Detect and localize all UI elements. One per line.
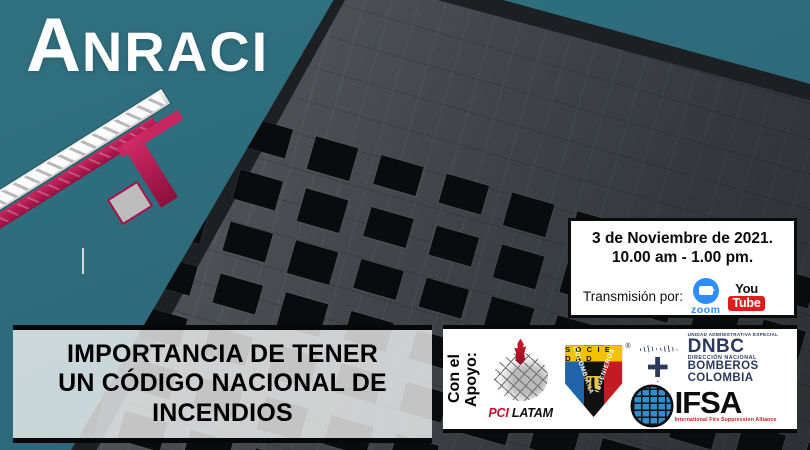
ifsa-acronym: IFSA	[675, 389, 777, 417]
building-window	[419, 278, 470, 319]
winged-shield-cross-icon	[633, 335, 683, 383]
sponsor-sociedad-colombiana-de-ingenieros: S O C I E D A D COLOMBIANA INGENIEROS π …	[563, 341, 625, 417]
zoom-logo[interactable]: zoom	[691, 278, 720, 316]
sponsor-pci-latam: PCI LATAM	[485, 339, 557, 420]
pci-suffix: LATAM	[509, 406, 553, 420]
page-title: IMPORTANCIA DE TENER UN CÓDIGO NACIONAL …	[58, 340, 387, 428]
building-window	[801, 442, 810, 450]
pci-prefix: PCI	[488, 406, 508, 420]
dnbc-acronym: DNBC	[688, 338, 779, 356]
building-window	[493, 244, 545, 289]
building-window	[287, 240, 339, 285]
crane-cab	[110, 183, 151, 222]
building-window	[503, 192, 555, 237]
anraci-logo-rest: NRACI	[82, 24, 269, 80]
zoom-camera-icon	[693, 278, 719, 304]
sponsor-dnbc-bomberos-colombia: UNIDAD ADMINISTRATIVA ESPECIAL DNBC DIRE…	[633, 333, 779, 384]
building-window	[595, 438, 646, 450]
event-date: 3 de Noviembre de 2021.	[577, 229, 788, 248]
anraci-logo-initial: A	[26, 8, 82, 84]
event-title-panel: IMPORTANCIA DE TENER UN CÓDIGO NACIONAL …	[13, 325, 432, 443]
event-time: 10.00 am - 1.00 pm.	[577, 248, 788, 267]
stream-label: Transmisión por:	[583, 289, 683, 304]
building-window	[429, 226, 480, 267]
building-window	[373, 155, 424, 196]
title-line-1: IMPORTANCIA DE TENER	[67, 340, 378, 368]
sponsors-panel: Con el Apoyo: PCI LATAM S O C I E D A D …	[443, 325, 797, 433]
dnbc-colombia: COLOMBIA	[688, 373, 779, 385]
zoom-label: zoom	[691, 305, 720, 316]
title-line-2: UN CÓDIGO NACIONAL DE	[58, 369, 387, 397]
registered-mark: ®	[625, 343, 630, 350]
dnbc-text-block: UNIDAD ADMINISTRATIVA ESPECIAL DNBC DIRE…	[688, 333, 779, 384]
building-window	[232, 169, 283, 210]
flame-globe-icon	[490, 339, 552, 405]
building-window	[363, 207, 414, 248]
title-line-3: INCENDIOS	[152, 399, 293, 427]
youtube-label-top: You	[735, 282, 758, 295]
stream-row: Transmisión por: zoom You Tube	[577, 278, 788, 316]
ifsa-tagline: International Fire Suppression Alliance	[675, 418, 777, 423]
building-window	[212, 273, 263, 314]
pci-latam-label: PCI LATAM	[488, 406, 552, 420]
ifsa-text-block: IFSA International Fire Suppression Alli…	[675, 389, 777, 423]
anraci-logo: A NRACI	[26, 8, 269, 84]
construction-crane	[0, 108, 196, 318]
sponsors-label: Con el Apoyo:	[447, 331, 481, 427]
crane-hook-line	[82, 248, 84, 274]
sponsor-ifsa: IFSA International Fire Suppression Alli…	[633, 387, 779, 425]
building-window	[297, 188, 349, 233]
youtube-label-bottom: Tube	[728, 296, 764, 311]
building-window	[307, 136, 359, 181]
building-window	[439, 174, 490, 215]
event-date-card: 3 de Noviembre de 2021. 10.00 am - 1.00 …	[568, 218, 797, 318]
building-window	[353, 259, 404, 300]
shield-pi-symbol: π	[586, 365, 601, 397]
event-banner: A NRACI 3 de Noviembre de 2021. 10.00 am…	[0, 0, 810, 450]
building-window	[222, 221, 273, 262]
globe-icon	[633, 387, 671, 425]
youtube-logo[interactable]: You Tube	[728, 282, 764, 311]
sponsors-right-column: UNIDAD ADMINISTRATIVA ESPECIAL DNBC DIRE…	[633, 333, 779, 424]
